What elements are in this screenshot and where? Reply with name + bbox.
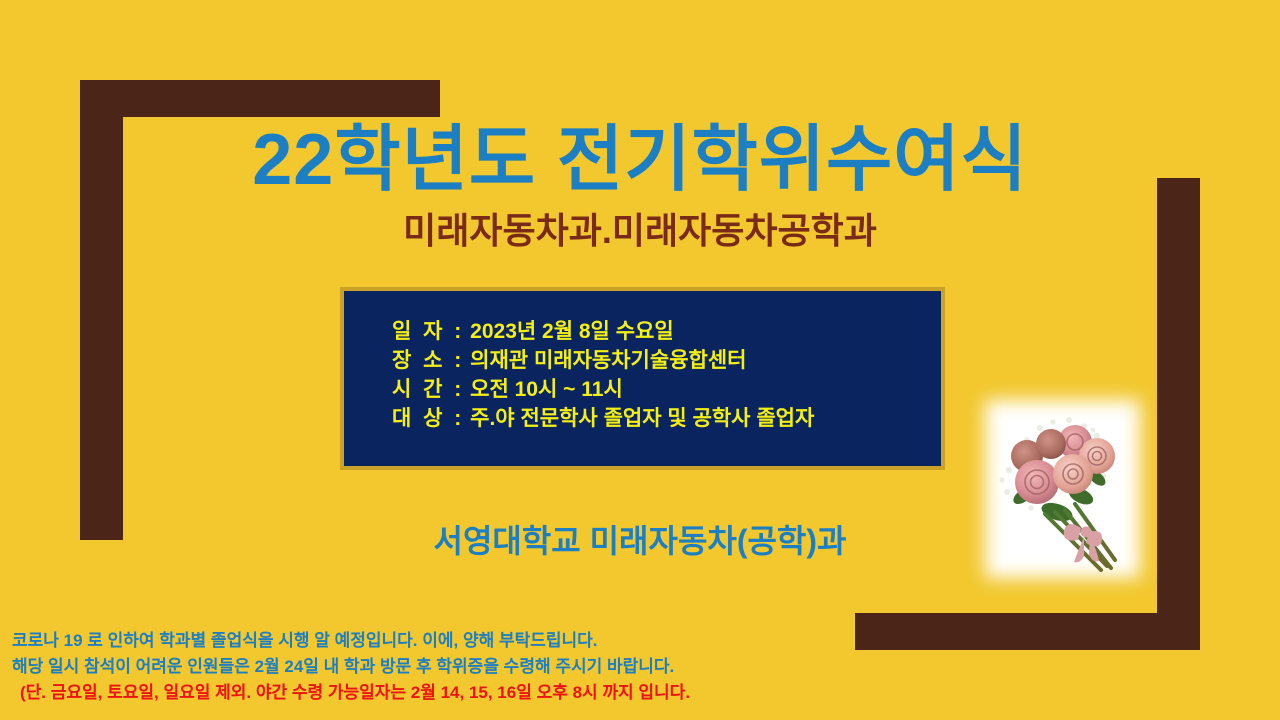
detail-value-date: 2023년 2월 8일 수요일	[470, 320, 674, 343]
detail-row-time: 시 간 : 오전 10시 ~ 11시	[392, 375, 941, 404]
detail-label-location: 장 소 :	[392, 349, 464, 372]
notice-line-3: (단. 금요일, 토요일, 일요일 제외. 야간 수령 가능일자는 2월 14,…	[12, 680, 1272, 706]
poster-subtitle: 미래자동차과.미래자동차공학과	[0, 213, 1280, 249]
flower-bouquet-image	[985, 400, 1140, 578]
poster-title: 22학년도 전기학위수여식	[0, 124, 1280, 196]
detail-label-date: 일 자 :	[392, 320, 464, 343]
detail-value-audience: 주.야 전문학사 졸업자 및 공학사 졸업자	[470, 407, 814, 430]
event-details-panel: 일 자 : 2023년 2월 8일 수요일 장 소 : 의재관 미래자동차기술융…	[340, 287, 945, 470]
detail-row-date: 일 자 : 2023년 2월 8일 수요일	[392, 317, 941, 346]
detail-value-location: 의재관 미래자동차기술융합센터	[470, 349, 746, 372]
detail-label-audience: 대 상 :	[392, 407, 464, 430]
frame-bracket-top-left-horizontal	[80, 80, 440, 117]
notice-line-2: 해당 일시 참석이 어려운 인원들은 2월 24일 내 학과 방문 후 학위증을…	[12, 654, 1272, 680]
detail-row-location: 장 소 : 의재관 미래자동차기술융합센터	[392, 346, 941, 375]
detail-row-audience: 대 상 : 주.야 전문학사 졸업자 및 공학사 졸업자	[392, 404, 941, 433]
detail-label-time: 시 간 :	[392, 378, 464, 401]
notice-line-1: 코로나 19 로 인하여 학과별 졸업식을 시행 알 예정입니다. 이에, 양해…	[12, 628, 1272, 654]
event-details-list: 일 자 : 2023년 2월 8일 수요일 장 소 : 의재관 미래자동차기술융…	[344, 291, 941, 433]
graduation-ceremony-poster: 22학년도 전기학위수여식 미래자동차과.미래자동차공학과 일 자 : 2023…	[0, 0, 1280, 720]
rose-bouquet-icon	[985, 400, 1140, 578]
detail-value-time: 오전 10시 ~ 11시	[470, 378, 623, 401]
bottom-notice-block: 코로나 19 로 인하여 학과별 졸업식을 시행 알 예정입니다. 이에, 양해…	[12, 628, 1272, 706]
